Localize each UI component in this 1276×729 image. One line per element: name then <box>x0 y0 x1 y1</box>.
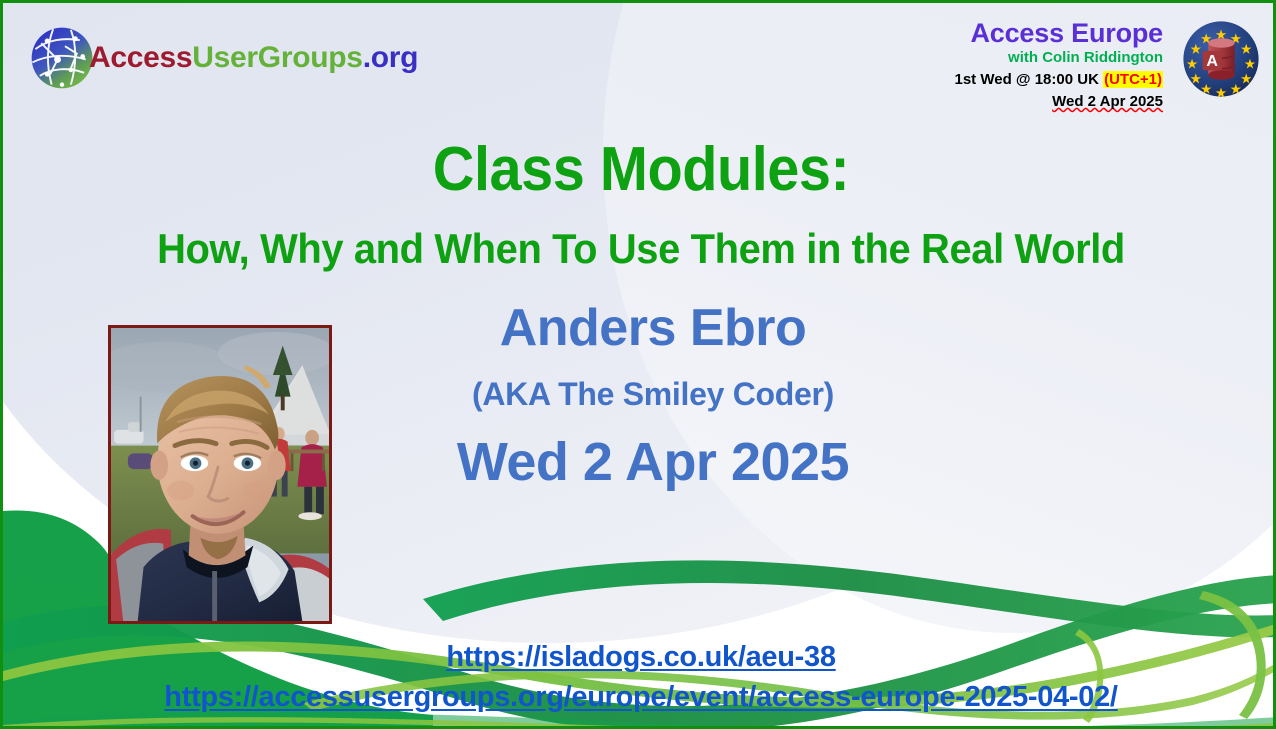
logo-word-access: Access <box>89 41 192 74</box>
event-schedule-time: 1st Wed @ 18:00 UK <box>955 71 1099 88</box>
logo-wordmark: AccessUserGroups.org <box>89 41 418 75</box>
accessusergroups-logo[interactable]: AccessUserGroups.org <box>25 19 355 97</box>
logo-word-usergroups: UserGroups <box>192 41 362 74</box>
access-badge-letter: A <box>1206 53 1218 70</box>
event-date: Wed 2 Apr 2025 <box>333 431 973 493</box>
globe-network-icon <box>25 21 99 95</box>
session-link-primary[interactable]: https://isladogs.co.uk/aeu-38 <box>3 641 1276 674</box>
presentation-slide: AccessUserGroups.org Access Europe with … <box>0 0 1276 729</box>
session-link-secondary-text[interactable]: https://accessusergroups.org/europe/even… <box>164 681 1117 713</box>
speaker-alias: (AKA The Smiley Coder) <box>333 376 973 413</box>
event-host-name: with Colin Riddington <box>833 48 1163 68</box>
event-header-date-text: Wed 2 Apr 2025 <box>1052 93 1163 110</box>
event-utc-badge: (UTC+1) <box>1103 71 1163 88</box>
event-schedule: 1st Wed @ 18:00 UK (UTC+1) <box>833 70 1163 90</box>
speaker-portrait-photo <box>111 328 329 621</box>
event-brand-title: Access Europe <box>833 19 1163 47</box>
speaker-photo-frame <box>108 325 332 624</box>
speaker-name: Anders Ebro <box>333 298 973 358</box>
slide-title: Class Modules: <box>48 134 1235 205</box>
logo-word-org: .org <box>363 41 418 74</box>
access-europe-header: Access Europe with Colin Riddington 1st … <box>833 19 1163 111</box>
ribbon-bottom-edge-light <box>3 717 1276 729</box>
event-header-date: Wed 2 Apr 2025 <box>833 92 1163 112</box>
session-link-secondary[interactable]: https://accessusergroups.org/europe/even… <box>3 681 1276 714</box>
slide-subtitle: How, Why and When To Use Them in the Rea… <box>35 225 1247 273</box>
ribbon-bottom-edge <box>3 712 1276 729</box>
session-link-primary-text[interactable]: https://isladogs.co.uk/aeu-38 <box>446 641 835 673</box>
eu-flag-access-database-icon: A <box>1181 19 1261 99</box>
